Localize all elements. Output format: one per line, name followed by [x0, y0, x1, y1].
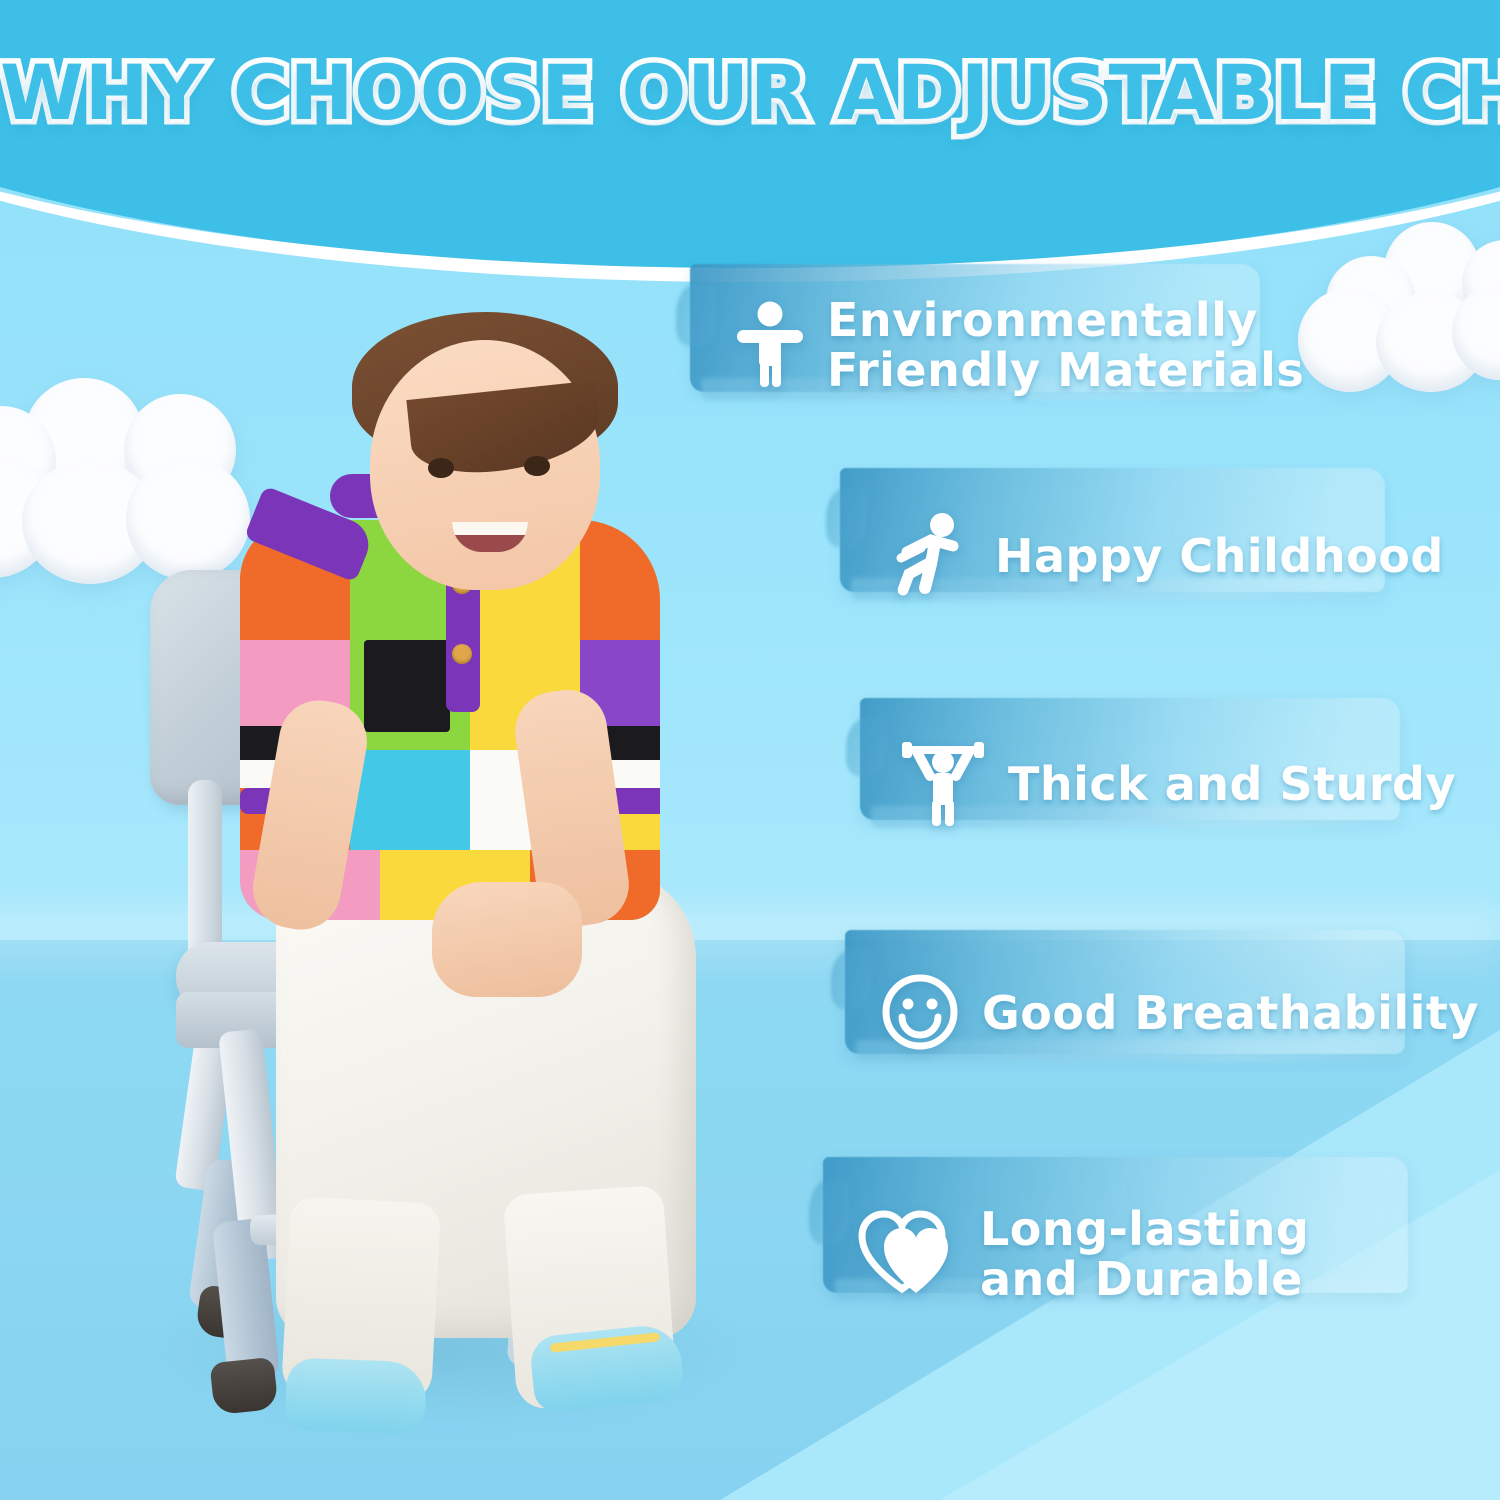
feature-label: Good Breathability	[982, 989, 1479, 1039]
feature-label: Environmentally Friendly Materials	[827, 296, 1304, 395]
feature-item-happy-childhood[interactable]: Happy Childhood	[895, 512, 1444, 602]
feature-label: Happy Childhood	[995, 532, 1444, 582]
double-heart-icon	[858, 1209, 958, 1301]
feature-item-environmentally-friendly-materials[interactable]: Environmentally Friendly Materials	[735, 296, 1304, 395]
feature-label: Thick and Sturdy	[1008, 760, 1456, 810]
standing-person-icon	[735, 301, 805, 391]
running-person-icon	[895, 512, 973, 602]
feature-item-good-breathability[interactable]: Good Breathability	[880, 972, 1479, 1056]
smiley-face-icon	[880, 972, 960, 1056]
feature-item-thick-and-sturdy[interactable]: Thick and Sturdy	[900, 740, 1456, 830]
infographic-page: WHY CHOOSE OUR ADJUSTABLE CHAIR?	[0, 0, 1500, 1500]
weightlifter-icon	[900, 740, 986, 830]
feature-label: Long-lasting and Durable	[980, 1205, 1309, 1304]
feature-list: Environmentally Friendly Materials Happy…	[0, 0, 1500, 1500]
feature-item-long-lasting-and-durable[interactable]: Long-lasting and Durable	[858, 1205, 1309, 1304]
